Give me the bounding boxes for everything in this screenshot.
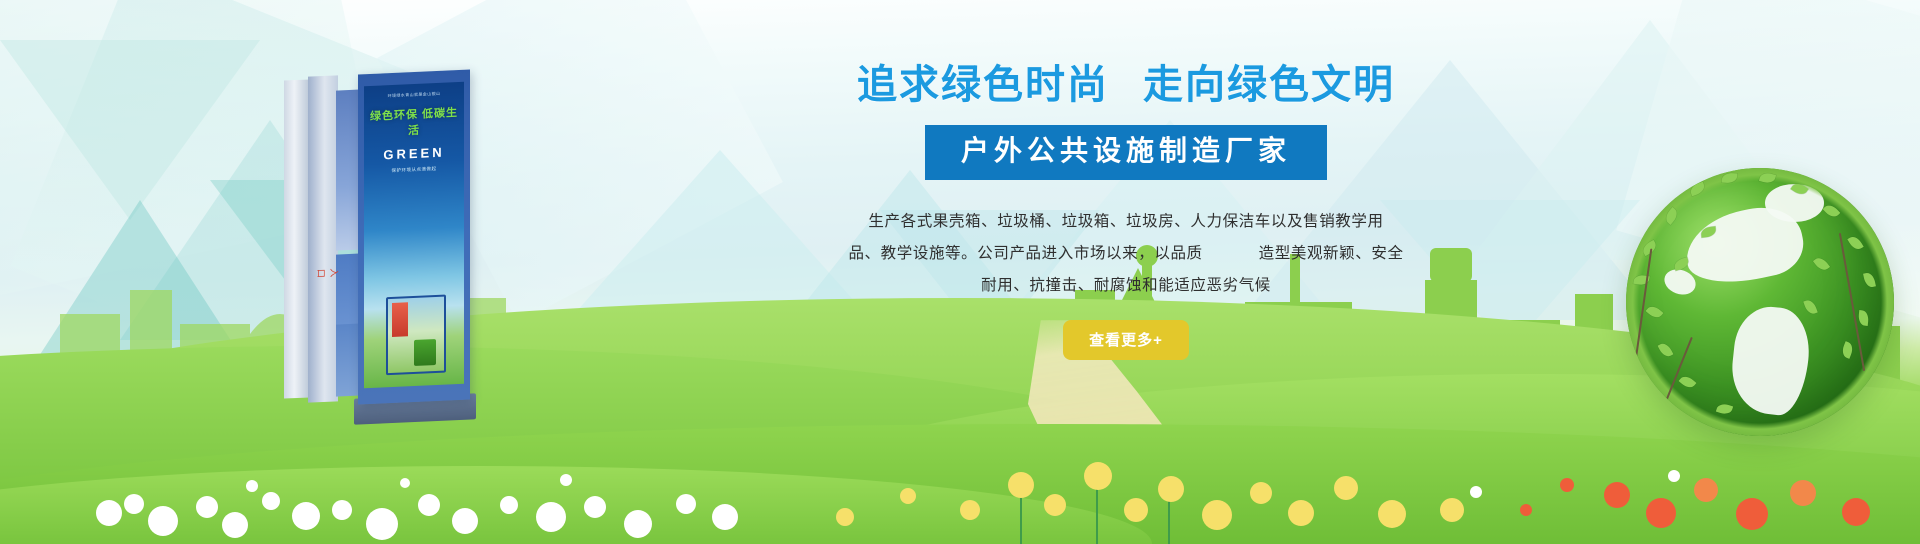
description-line-2: 品、教学设施等。公司产品进入市场以来，以品质造型美观新颖、安全 <box>796 238 1456 270</box>
subtitle-ribbon: 户外公共设施制造厂家 <box>925 125 1327 180</box>
kiosk-poster: 环境绿水青山就是金山银山 绿色环保 低碳生活 GREEN 保护环境从点滴做起 <box>364 82 464 389</box>
poster-english-word: GREEN <box>364 144 464 164</box>
poster-headline: 绿色环保 低碳生活 <box>364 104 464 141</box>
poster-subline: 保护环境从点滴做起 <box>364 165 464 176</box>
kiosk-column-left <box>284 80 310 399</box>
poster-brand-line: 环境绿水青山就是金山银山 <box>364 90 464 101</box>
kiosk-column-mid <box>308 75 338 402</box>
description-line-2a: 品、教学设施等。公司产品进入市场以来，以品质 <box>848 245 1202 262</box>
banner-copy: 追求绿色时尚走向绿色文明 户外公共设施制造厂家 生产各式果壳箱、垃圾桶、垃圾箱、… <box>796 62 1456 360</box>
green-leaf-earth-globe <box>1626 168 1894 436</box>
headline-right: 走向绿色文明 <box>1143 63 1395 107</box>
description-line-3: 耐用、抗撞击、耐腐蚀和能适应恶劣气候 <box>796 270 1456 302</box>
poster-inset-photo <box>386 295 446 376</box>
view-more-button[interactable]: 查看更多+ <box>1063 320 1189 360</box>
description-line-1: 生产各式果壳箱、垃圾桶、垃圾箱、垃圾房、人力保洁车以及售销教学用 <box>796 206 1456 238</box>
kiosk-display-frame: 环境绿水青山就是金山银山 绿色环保 低碳生活 GREEN 保护环境从点滴做起 <box>358 69 470 404</box>
poster-waste-bin-icon <box>414 339 436 366</box>
description-line-2b: 造型美观新颖、安全 <box>1259 245 1404 262</box>
poster-headline-left: 绿色环保 <box>370 109 418 123</box>
cta-container: 查看更多+ <box>796 320 1456 360</box>
kiosk-entrance-label: 入口 <box>315 268 341 283</box>
headline: 追求绿色时尚走向绿色文明 <box>796 62 1456 109</box>
description-paragraph: 生产各式果壳箱、垃圾桶、垃圾箱、垃圾房、人力保洁车以及售销教学用 品、教学设施等… <box>796 206 1456 302</box>
outdoor-lightbox-kiosk: 入口 环境绿水青山就是金山银山 绿色环保 低碳生活 GREEN 保护环境从点滴做… <box>284 72 484 402</box>
hero-banner: 入口 环境绿水青山就是金山银山 绿色环保 低碳生活 GREEN 保护环境从点滴做… <box>0 0 1920 544</box>
poster-inset-label <box>392 302 408 337</box>
headline-left: 追求绿色时尚 <box>857 63 1109 107</box>
